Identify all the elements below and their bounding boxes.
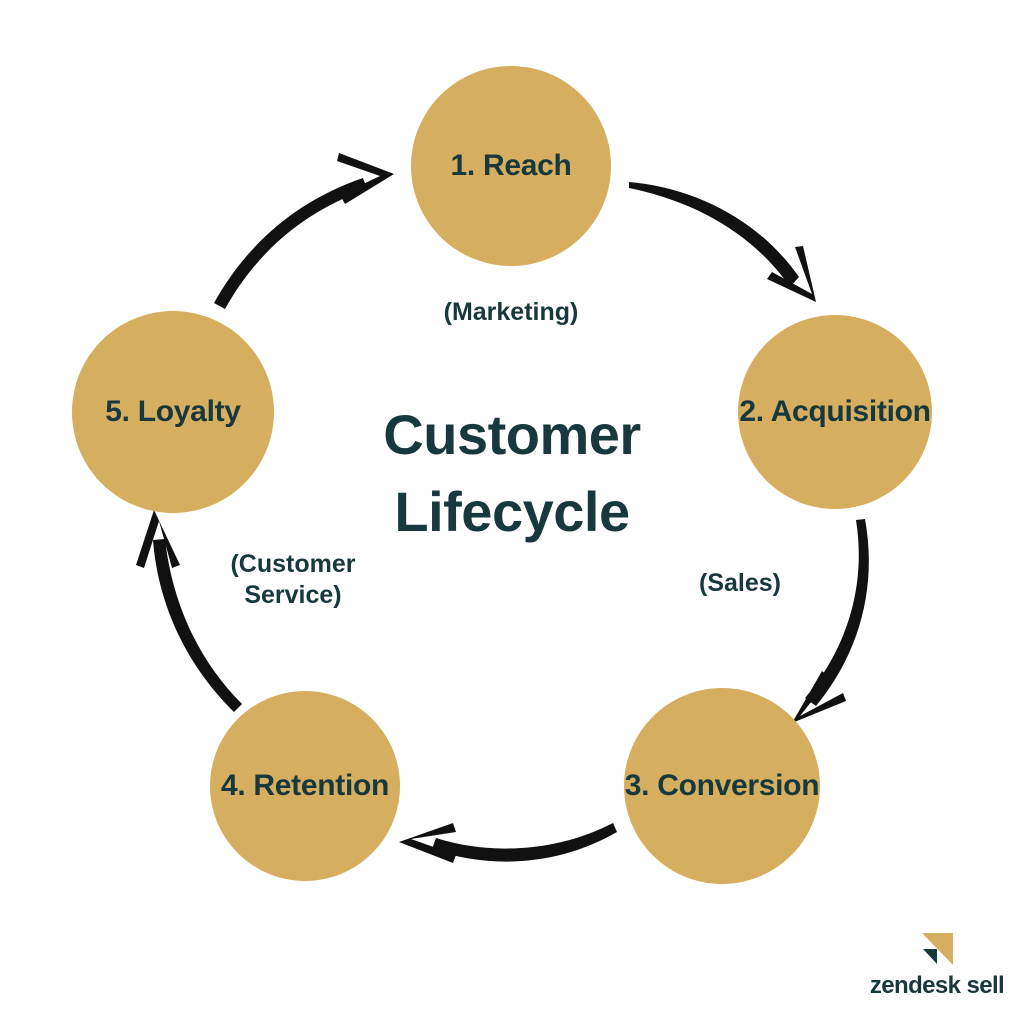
department-label-marketing: (Marketing) [361, 297, 661, 328]
department-label-sales: (Sales) [640, 568, 840, 599]
department-label-customer-service-line2: Service) [193, 580, 393, 611]
diagram-title-line2: Lifecycle [312, 473, 712, 550]
stage-circle-loyalty[interactable]: 5. Loyalty [72, 311, 274, 513]
stage-label-reach: 1. Reach [451, 151, 572, 181]
stage-label-loyalty: 5. Loyalty [105, 397, 240, 427]
arrow-loyalty-to-reach [214, 153, 394, 309]
stage-circle-conversion[interactable]: 3. Conversion [624, 688, 820, 884]
stage-circle-reach[interactable]: 1. Reach [411, 66, 611, 266]
arrow-reach-to-acquisition [629, 182, 816, 302]
diagram-canvas: 1. Reach 2. Acquisition 3. Conversion 4.… [0, 0, 1024, 1024]
diagram-title: Customer Lifecycle [312, 396, 712, 551]
stage-label-retention: 4. Retention [221, 771, 389, 801]
department-label-customer-service-line1: (Customer [193, 549, 393, 580]
department-label-customer-service: (Customer Service) [193, 549, 393, 612]
stage-label-conversion: 3. Conversion [625, 771, 819, 801]
brand-logo: zendesk sell [862, 932, 1012, 1004]
diagram-title-line1: Customer [312, 396, 712, 473]
brand-wordmark: zendesk sell [862, 974, 1012, 998]
stage-circle-acquisition[interactable]: 2. Acquisition [738, 315, 932, 509]
arrow-acquisition-to-conversion [792, 519, 869, 723]
stage-label-acquisition: 2. Acquisition [739, 397, 930, 427]
stage-circle-retention[interactable]: 4. Retention [210, 691, 400, 881]
zendesk-logo-icon [920, 932, 954, 966]
arrow-conversion-to-retention [399, 823, 617, 863]
